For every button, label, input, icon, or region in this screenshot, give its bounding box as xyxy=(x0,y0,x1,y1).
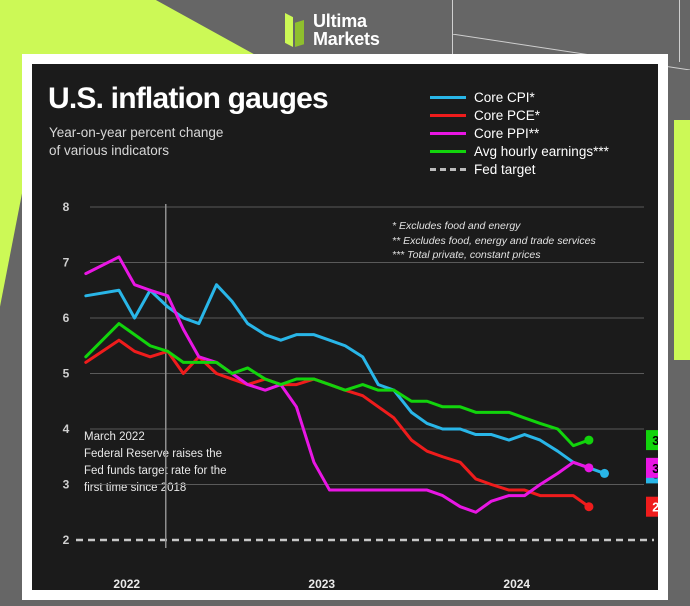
brand-name-line2: Markets xyxy=(313,29,380,49)
end-label-value: 2.6 xyxy=(652,501,658,515)
series-line-core-pce-[interactable] xyxy=(86,340,589,507)
y-axis-tick-label: 6 xyxy=(63,311,70,325)
chart-panel: U.S. inflation gauges Year-on-year perce… xyxy=(32,64,658,590)
logo-bar-secondary xyxy=(295,20,304,47)
axis-labels-group: 2345678202220232024 xyxy=(63,200,531,590)
series-endpoint-marker xyxy=(584,436,593,445)
y-axis-tick-label: 5 xyxy=(63,367,70,381)
series-endpoint-marker xyxy=(584,463,593,472)
brand-logo: Ultima Markets xyxy=(285,12,380,48)
brand-name-line1: Ultima xyxy=(313,11,367,31)
y-axis-tick-label: 2 xyxy=(63,533,70,547)
series-line-core-cpi-[interactable] xyxy=(86,285,605,474)
x-axis-tick-label: 2022 xyxy=(113,577,140,590)
decorative-hairline-vertical xyxy=(679,0,680,62)
x-axis-tick-label: 2024 xyxy=(503,577,530,590)
brand-wordmark: Ultima Markets xyxy=(313,12,380,48)
series-endpoint-marker xyxy=(584,502,593,511)
chart-plot-area: 2345678202220232024 3.22.63.33.8 xyxy=(32,64,658,590)
series-endpoint-marker xyxy=(600,469,609,478)
y-axis-tick-label: 3 xyxy=(63,478,70,492)
end-label-value: 3.8 xyxy=(652,434,658,448)
accent-bar-right xyxy=(674,120,690,360)
logo-bar-primary xyxy=(285,13,293,47)
series-line-core-ppi-[interactable] xyxy=(86,257,589,512)
end-label-value: 3.3 xyxy=(652,462,658,476)
series-group xyxy=(86,257,609,512)
chart-card-frame: U.S. inflation gauges Year-on-year perce… xyxy=(22,54,668,600)
x-axis-tick-label: 2023 xyxy=(308,577,335,590)
ultima-logo-icon xyxy=(285,13,304,47)
y-axis-tick-label: 8 xyxy=(63,200,70,214)
y-axis-tick-label: 4 xyxy=(63,422,70,436)
end-labels-group: 3.22.63.33.8 xyxy=(646,430,658,517)
y-axis-tick-label: 7 xyxy=(63,256,70,270)
